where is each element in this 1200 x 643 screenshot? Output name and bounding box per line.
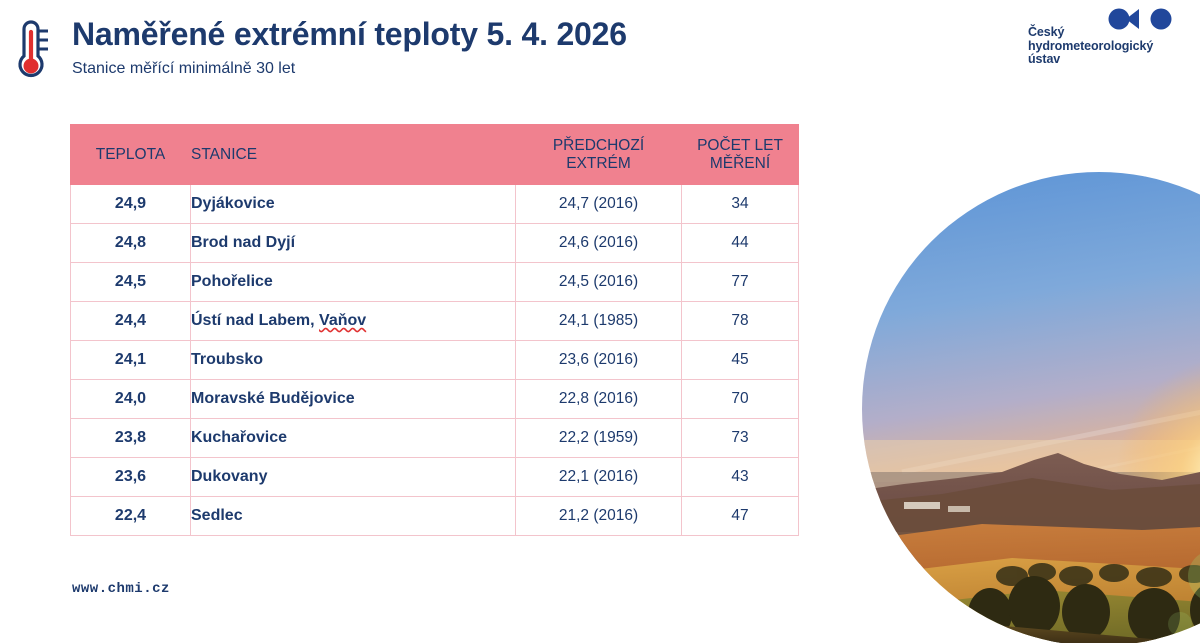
page-title: Naměřené extrémní teploty 5. 4. 2026 xyxy=(72,16,627,53)
thermometer-icon xyxy=(9,16,53,88)
cell-predchozi-extrem: 22,2 (1959) xyxy=(516,419,682,458)
cell-teplota: 23,6 xyxy=(71,458,191,497)
cell-pocet-let-mereni: 70 xyxy=(682,380,799,419)
cell-teplota: 24,8 xyxy=(71,224,191,263)
table-row: 24,4Ústí nad Labem, Vaňov24,1 (1985)78 xyxy=(71,302,799,341)
table-header: TEPLOTA STANICE PŘEDCHOZÍ EXTRÉM POČET L… xyxy=(71,125,799,185)
cell-pocet-let-mereni: 78 xyxy=(682,302,799,341)
cell-predchozi-extrem: 21,2 (2016) xyxy=(516,497,682,536)
cell-stanice: Moravské Budějovice xyxy=(191,380,516,419)
cell-teplota: 24,0 xyxy=(71,380,191,419)
cell-predchozi-extrem: 22,8 (2016) xyxy=(516,380,682,419)
cell-predchozi-extrem: 24,6 (2016) xyxy=(516,224,682,263)
cell-predchozi-extrem: 24,1 (1985) xyxy=(516,302,682,341)
cell-pocet-let-mereni: 73 xyxy=(682,419,799,458)
cell-stanice: Brod nad Dyjí xyxy=(191,224,516,263)
extremes-table-wrapper: TEPLOTA STANICE PŘEDCHOZÍ EXTRÉM POČET L… xyxy=(70,124,798,536)
cell-stanice: Ústí nad Labem, Vaňov xyxy=(191,302,516,341)
station-name-text: Ústí nad Labem, xyxy=(191,312,319,329)
cell-stanice: Kuchařovice xyxy=(191,419,516,458)
table-row: 24,0Moravské Budějovice22,8 (2016)70 xyxy=(71,380,799,419)
table-row: 24,5Pohořelice24,5 (2016)77 xyxy=(71,263,799,302)
column-header-pocet-let-mereni: POČET LET MĚŘENÍ xyxy=(682,125,799,185)
table-header-row: TEPLOTA STANICE PŘEDCHOZÍ EXTRÉM POČET L… xyxy=(71,125,799,185)
column-header-predchozi-extrem: PŘEDCHOZÍ EXTRÉM xyxy=(516,125,682,185)
cell-stanice: Dyjákovice xyxy=(191,185,516,224)
chmi-logo-text: Český hydrometeorologický ústav xyxy=(1028,26,1153,67)
cell-predchozi-extrem: 23,6 (2016) xyxy=(516,341,682,380)
cell-teplota: 24,5 xyxy=(71,263,191,302)
cell-predchozi-extrem: 24,5 (2016) xyxy=(516,263,682,302)
cell-teplota: 24,1 xyxy=(71,341,191,380)
sunset-landscape-photo xyxy=(862,172,1200,643)
table-row: 24,9Dyjákovice24,7 (2016)34 xyxy=(71,185,799,224)
chmi-logo: Český hydrometeorologický ústav xyxy=(994,8,1172,70)
table-body: 24,9Dyjákovice24,7 (2016)3424,8Brod nad … xyxy=(71,185,799,536)
column-header-stanice: STANICE xyxy=(191,125,516,185)
footer-url[interactable]: www.chmi.cz xyxy=(72,581,170,597)
cell-predchozi-extrem: 22,1 (2016) xyxy=(516,458,682,497)
table-row: 22,4Sedlec21,2 (2016)47 xyxy=(71,497,799,536)
cell-pocet-let-mereni: 44 xyxy=(682,224,799,263)
cell-stanice: Dukovany xyxy=(191,458,516,497)
extremes-table: TEPLOTA STANICE PŘEDCHOZÍ EXTRÉM POČET L… xyxy=(70,124,799,536)
cell-teplota: 22,4 xyxy=(71,497,191,536)
cell-pocet-let-mereni: 43 xyxy=(682,458,799,497)
station-name-misspelled-text: Vaňov xyxy=(319,312,366,329)
cell-stanice: Pohořelice xyxy=(191,263,516,302)
column-header-teplota: TEPLOTA xyxy=(71,125,191,185)
cell-pocet-let-mereni: 47 xyxy=(682,497,799,536)
cell-pocet-let-mereni: 77 xyxy=(682,263,799,302)
cell-pocet-let-mereni: 34 xyxy=(682,185,799,224)
cell-stanice: Sedlec xyxy=(191,497,516,536)
table-row: 24,8Brod nad Dyjí24,6 (2016)44 xyxy=(71,224,799,263)
cell-teplota: 24,4 xyxy=(71,302,191,341)
cell-stanice: Troubsko xyxy=(191,341,516,380)
table-row: 23,6Dukovany22,1 (2016)43 xyxy=(71,458,799,497)
cell-teplota: 24,9 xyxy=(71,185,191,224)
table-row: 23,8Kuchařovice22,2 (1959)73 xyxy=(71,419,799,458)
cell-predchozi-extrem: 24,7 (2016) xyxy=(516,185,682,224)
page-subtitle: Stanice měřící minimálně 30 let xyxy=(72,60,295,78)
cell-teplota: 23,8 xyxy=(71,419,191,458)
table-row: 24,1Troubsko23,6 (2016)45 xyxy=(71,341,799,380)
slide-root: Naměřené extrémní teploty 5. 4. 2026 Sta… xyxy=(0,0,1200,643)
cell-pocet-let-mereni: 45 xyxy=(682,341,799,380)
